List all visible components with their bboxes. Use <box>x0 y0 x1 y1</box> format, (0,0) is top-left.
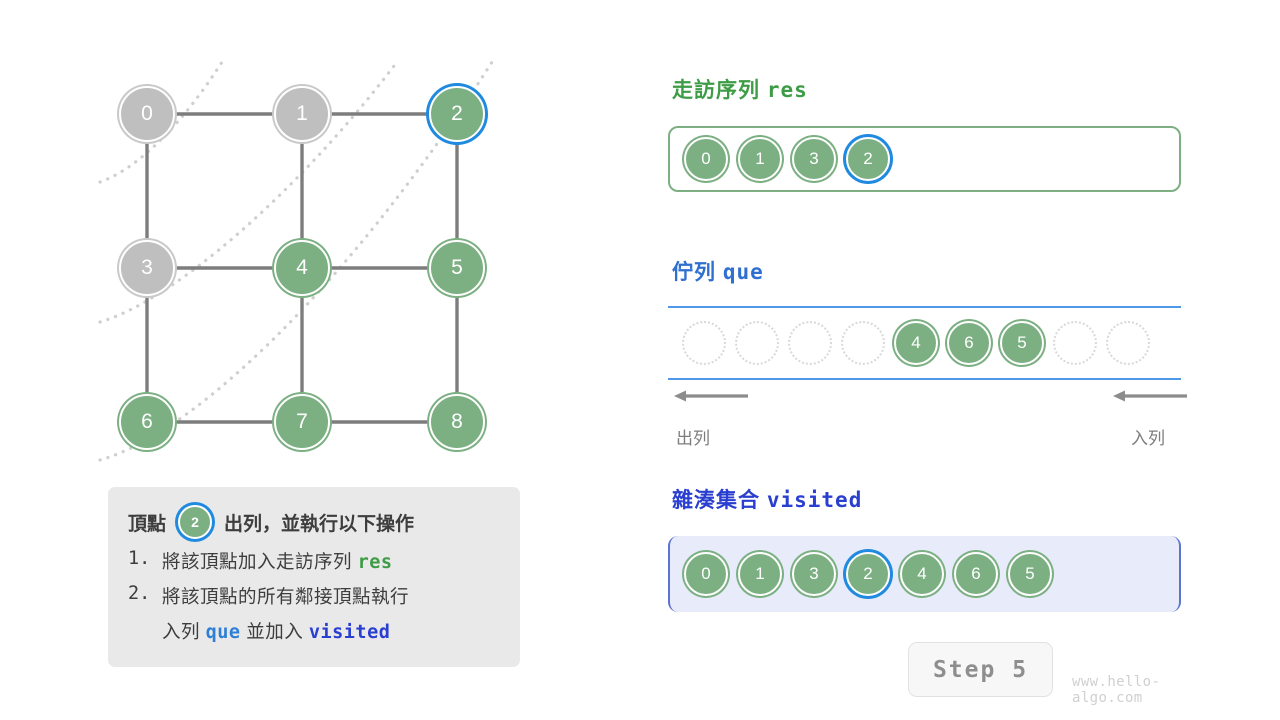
caption-step-2: 2. 將該頂點的所有鄰接頂點執行 <box>128 583 500 609</box>
res-title-code: res <box>767 78 808 102</box>
queue-title-cn: 佇列 <box>672 261 716 284</box>
dequeue-arrow-icon <box>672 386 752 406</box>
caption-step-2-text: 將該頂點的所有鄰接頂點執行 <box>162 583 409 609</box>
queue-slot-8[interactable] <box>1106 321 1150 365</box>
caption-step-2-before: 將該頂點的所有鄰接頂點執行 <box>162 586 409 607</box>
right-panel: 走訪序列 res 0132 佇列 que 465 出列 入列 雜湊集合 visi… <box>668 0 1228 720</box>
caption-suffix: 出列，並執行以下操作 <box>224 509 414 536</box>
watermark: www.hello-algo.com <box>1072 674 1228 706</box>
graph-node-2[interactable]: 2 <box>429 86 485 142</box>
queue-slot-1[interactable] <box>735 321 779 365</box>
res-item-1[interactable]: 1 <box>738 137 782 181</box>
step-badge: Step 5 <box>908 642 1053 697</box>
visited-item-4[interactable]: 4 <box>900 552 944 596</box>
queue-section-title: 佇列 que <box>672 256 764 286</box>
graph-node-5[interactable]: 5 <box>429 240 485 296</box>
caption-step-1-code-res: res <box>358 552 393 573</box>
caption-box: 頂點 2 出列，並執行以下操作 1. 將該頂點加入走訪序列 res 2. 將該頂… <box>108 487 520 667</box>
graph-node-0[interactable]: 0 <box>119 86 175 142</box>
queue-container: 465 <box>668 306 1181 380</box>
dequeue-label: 出列 <box>676 424 710 449</box>
res-container: 0132 <box>668 126 1181 192</box>
enqueue-label: 入列 <box>1131 424 1165 449</box>
res-item-0[interactable]: 0 <box>684 137 728 181</box>
graph-node-8[interactable]: 8 <box>429 394 485 450</box>
queue-slot-0[interactable] <box>682 321 726 365</box>
caption-step-1-before: 將該頂點加入走訪序列 <box>162 551 352 572</box>
caption-step-1-text: 將該頂點加入走訪序列 res <box>162 548 393 574</box>
visited-title-cn: 雜湊集合 <box>672 489 760 512</box>
queue-title-code: que <box>723 260 764 284</box>
graph-node-6[interactable]: 6 <box>119 394 175 450</box>
enqueue-arrow-icon <box>1111 386 1191 406</box>
caption-step-2-indent <box>128 618 162 644</box>
caption-node-badge: 2 <box>178 505 212 539</box>
queue-slot-2[interactable] <box>788 321 832 365</box>
caption-step-2-line2: 入列 que 並加入 visited <box>128 618 500 644</box>
visited-item-5[interactable]: 6 <box>954 552 998 596</box>
graph-node-7[interactable]: 7 <box>274 394 330 450</box>
res-item-2[interactable]: 3 <box>792 137 836 181</box>
graph-node-4[interactable]: 4 <box>274 240 330 296</box>
queue-slot-4[interactable]: 4 <box>894 321 938 365</box>
queue-slot-3[interactable] <box>841 321 885 365</box>
visited-item-6[interactable]: 5 <box>1008 552 1052 596</box>
visited-item-2[interactable]: 3 <box>792 552 836 596</box>
graph-node-1[interactable]: 1 <box>274 86 330 142</box>
caption-heading: 頂點 2 出列，並執行以下操作 <box>128 505 500 539</box>
caption-step-2-number: 2. <box>128 583 162 609</box>
caption-step-2-line2-mid: 並加入 <box>246 621 303 642</box>
caption-step-2-line2-before: 入列 <box>162 621 200 642</box>
res-title-cn: 走訪序列 <box>672 79 760 102</box>
graph-node-3[interactable]: 3 <box>119 240 175 296</box>
visited-item-3[interactable]: 2 <box>846 552 890 596</box>
res-section-title: 走訪序列 res <box>672 74 808 104</box>
queue-slot-5[interactable]: 6 <box>947 321 991 365</box>
visited-container: 0132465 <box>668 536 1181 612</box>
queue-slot-7[interactable] <box>1053 321 1097 365</box>
res-item-3[interactable]: 2 <box>846 137 890 181</box>
visited-item-0[interactable]: 0 <box>684 552 728 596</box>
caption-step-1-number: 1. <box>128 548 162 574</box>
caption-prefix: 頂點 <box>128 509 166 536</box>
caption-step-2-code-que: que <box>206 622 241 643</box>
caption-step-2-code-visited: visited <box>309 622 390 643</box>
queue-slot-6[interactable]: 5 <box>1000 321 1044 365</box>
caption-step-1: 1. 將該頂點加入走訪序列 res <box>128 548 500 574</box>
visited-item-1[interactable]: 1 <box>738 552 782 596</box>
graph-panel: 012345678 <box>0 0 560 500</box>
visited-section-title: 雜湊集合 visited <box>672 484 862 514</box>
visited-title-code: visited <box>767 488 863 512</box>
